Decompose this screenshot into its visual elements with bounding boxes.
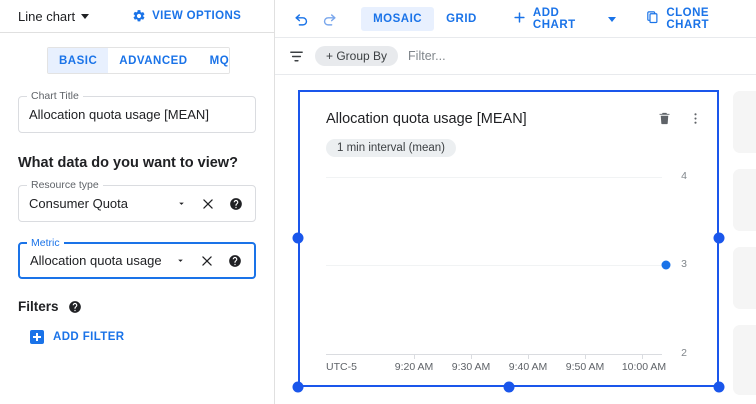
add-filter-label: ADD FILTER	[53, 331, 125, 343]
help-icon[interactable]	[228, 254, 242, 268]
x-tick-mark	[414, 354, 415, 359]
clone-chart-button[interactable]: CLONE CHART	[639, 2, 756, 36]
filters-section-heading: Filters	[18, 299, 274, 314]
redo-icon[interactable]	[315, 4, 343, 34]
chart-card-title: Allocation quota usage [MEAN]	[326, 110, 657, 128]
chart-type-dropdown[interactable]: Line chart	[18, 9, 89, 24]
adjacent-chart-card[interactable]	[733, 91, 756, 153]
adjacent-chart-card[interactable]	[733, 325, 756, 395]
adjacent-chart-card[interactable]	[733, 169, 756, 231]
trash-icon[interactable]	[657, 111, 672, 126]
resize-handle-bottom-right[interactable]	[714, 382, 725, 393]
filter-input[interactable]: Filter...	[408, 49, 446, 63]
adjacent-chart-card[interactable]	[733, 247, 756, 309]
chevron-down-icon	[608, 17, 616, 22]
resize-handle-bottom-center[interactable]	[504, 382, 515, 393]
mosaic-label: MOSAIC	[373, 13, 422, 25]
resize-handle-left[interactable]	[293, 233, 304, 244]
dashboard-canvas: Allocation quota usage [MEAN]	[275, 75, 756, 402]
add-filter-button[interactable]: ADD FILTER	[30, 330, 274, 344]
clone-chart-label: CLONE CHART	[666, 7, 750, 31]
chart-plot-area: 4 3 2 UTC-5 9:20 AM	[300, 169, 717, 385]
view-options-label: VIEW OPTIONS	[152, 10, 241, 22]
x-tick-mark	[642, 354, 643, 359]
clear-icon[interactable]	[201, 197, 215, 211]
more-vert-icon[interactable]	[688, 111, 703, 126]
chart-config-panel: Line chart VIEW OPTIONS BASIC ADVANCED	[0, 0, 275, 404]
dashboard-filter-bar: + Group By Filter...	[275, 38, 756, 75]
x-axis-line	[326, 354, 662, 355]
metric-legend: Metric	[27, 237, 64, 249]
plus-icon	[30, 330, 44, 344]
chevron-down-icon[interactable]	[176, 198, 187, 209]
resize-handle-bottom-left[interactable]	[293, 382, 304, 393]
resource-type-field[interactable]: Resource type Consumer Quota	[18, 185, 256, 222]
gridline-4	[326, 177, 662, 178]
chart-title-value: Allocation quota usage [MEAN]	[29, 107, 245, 122]
x-tick-mark	[471, 354, 472, 359]
data-point[interactable]	[662, 261, 671, 270]
interval-chip: 1 min interval (mean)	[326, 139, 456, 157]
clear-icon[interactable]	[200, 254, 214, 268]
gridline-3	[326, 265, 662, 266]
y-tick-label: 2	[681, 347, 687, 359]
tab-advanced[interactable]: ADVANCED	[108, 48, 198, 73]
resize-handle-right[interactable]	[714, 233, 725, 244]
x-tick-label: 10:00 AM	[622, 361, 666, 373]
undo-icon[interactable]	[287, 4, 315, 34]
dashboard-panel: MOSAIC GRID ADD CHART CLONE C	[275, 0, 756, 404]
layout-grid-button[interactable]: GRID	[434, 7, 489, 31]
filters-label: Filters	[18, 299, 59, 314]
chevron-down-icon	[81, 14, 89, 19]
quota-chart-editor: Line chart VIEW OPTIONS BASIC ADVANCED	[0, 0, 756, 404]
x-tick-label: 9:40 AM	[509, 361, 548, 373]
help-icon[interactable]	[229, 197, 243, 211]
timezone-label: UTC-5	[326, 361, 357, 373]
chart-card-actions	[657, 110, 703, 126]
resource-type-value: Consumer Quota	[29, 196, 176, 211]
chart-type-label: Line chart	[18, 9, 75, 24]
tab-mql[interactable]: MQL	[199, 48, 230, 73]
chart-title-legend: Chart Title	[27, 90, 83, 102]
x-tick-mark	[528, 354, 529, 359]
metric-field[interactable]: Metric Allocation quota usage	[18, 242, 256, 279]
x-tick-label: 9:50 AM	[566, 361, 605, 373]
tab-basic-label: BASIC	[59, 55, 97, 67]
filter-list-icon[interactable]	[285, 48, 305, 65]
data-section-heading: What data do you want to view?	[18, 155, 274, 171]
chart-card-header: Allocation quota usage [MEAN]	[300, 92, 717, 128]
copy-icon	[645, 10, 660, 28]
metric-icons	[175, 254, 244, 268]
resource-type-legend: Resource type	[27, 179, 103, 191]
x-tick-label: 9:30 AM	[452, 361, 491, 373]
tab-mql-label: MQL	[210, 55, 230, 67]
dashboard-toolbar: MOSAIC GRID ADD CHART CLONE C	[275, 0, 756, 38]
metric-value: Allocation quota usage	[30, 253, 175, 268]
chart-title-field[interactable]: Chart Title Allocation quota usage [MEAN…	[18, 96, 256, 133]
add-chart-label: ADD CHART	[533, 7, 600, 31]
resource-type-icons	[176, 197, 245, 211]
chart-card[interactable]: Allocation quota usage [MEAN]	[298, 90, 719, 387]
view-options-button[interactable]: VIEW OPTIONS	[132, 9, 241, 23]
y-tick-label: 3	[681, 258, 687, 270]
tab-advanced-label: ADVANCED	[119, 55, 187, 67]
x-tick-label: 9:20 AM	[395, 361, 434, 373]
chevron-down-icon[interactable]	[175, 255, 186, 266]
tab-basic[interactable]: BASIC	[48, 48, 108, 73]
grid-label: GRID	[446, 13, 477, 25]
x-tick-mark	[585, 354, 586, 359]
group-by-chip[interactable]: + Group By	[315, 46, 398, 66]
help-icon[interactable]	[68, 300, 82, 314]
config-tabs: BASIC ADVANCED MQL	[47, 47, 230, 74]
add-chart-button[interactable]: ADD CHART	[506, 2, 622, 36]
config-panel-header: Line chart VIEW OPTIONS	[0, 0, 274, 33]
gear-icon	[132, 9, 146, 23]
y-tick-label: 4	[681, 170, 687, 182]
plus-icon	[512, 10, 527, 28]
layout-mosaic-button[interactable]: MOSAIC	[361, 7, 434, 31]
